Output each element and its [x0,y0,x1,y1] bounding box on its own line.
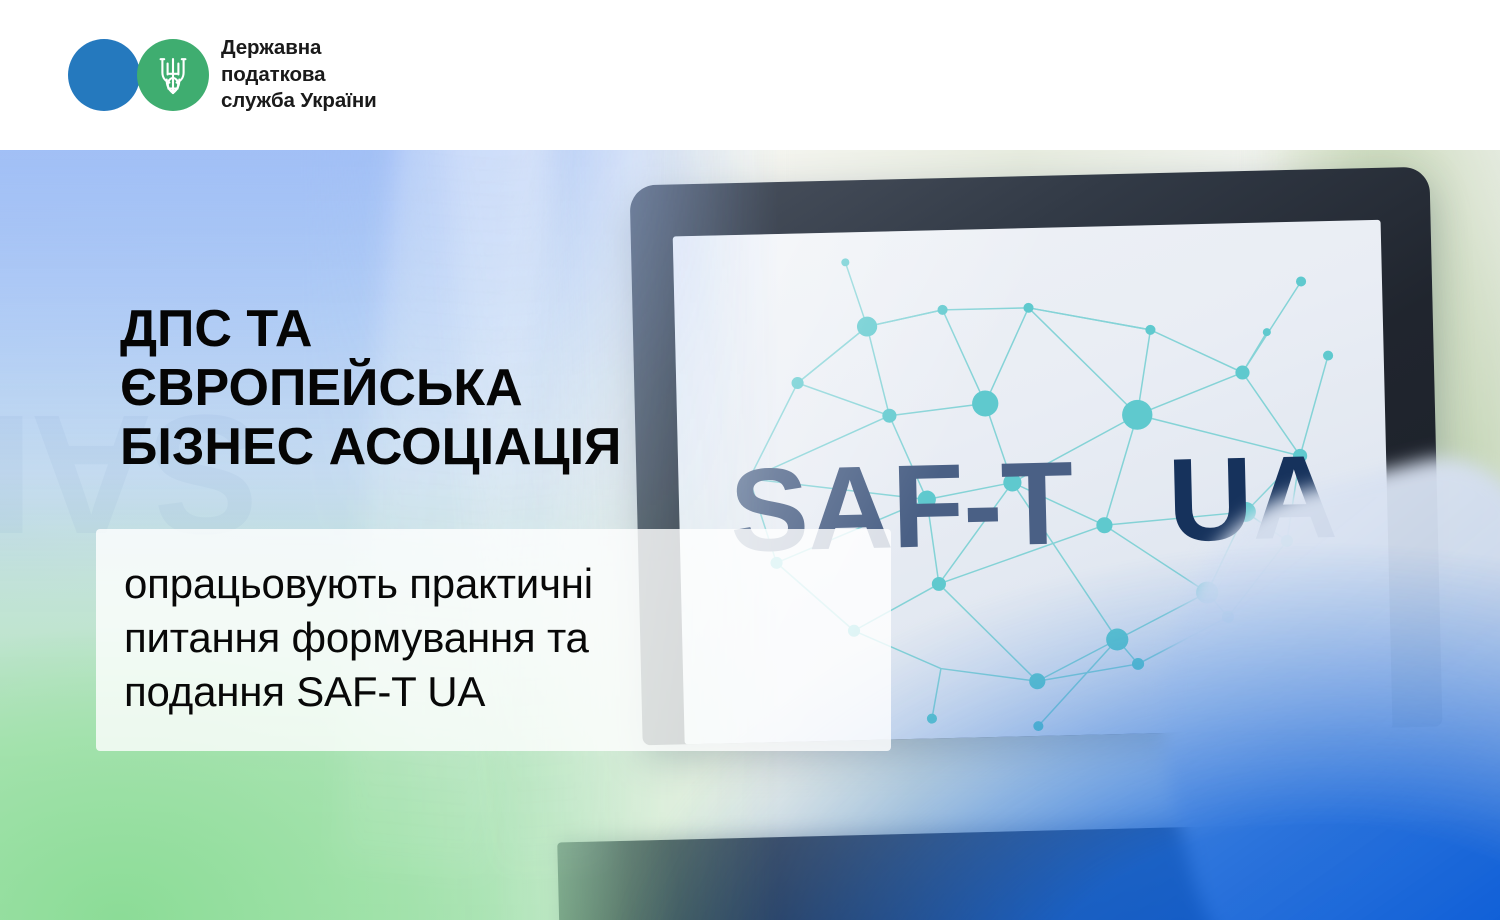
logo-marks [68,39,209,111]
subtitle-line-1: опрацьовують практичні [124,557,865,611]
poster-canvas: Державна податкова служба України [0,0,1500,920]
logo-line-1: Державна [221,35,377,62]
subtitle-panel: опрацьовують практичні питання формуванн… [96,529,891,751]
dps-logo: Державна податкова служба України [68,35,377,115]
logo-line-3: служба України [221,88,377,115]
logo-line-2: податкова [221,62,377,89]
logo-wordmark: Державна податкова служба України [221,35,377,115]
headline-line-1: ДПС ТА [120,300,820,359]
headline-line-2: ЄВРОПЕЙСЬКА [120,359,820,418]
header-bar: Державна податкова служба України [0,0,1500,150]
subtitle-line-2: питання формування та [124,611,865,665]
subtitle-text: опрацьовують практичні питання формуванн… [124,557,865,720]
page-title: ДПС ТА ЄВРОПЕЙСЬКА БІЗНЕС АСОЦІАЦІЯ [120,300,820,477]
blue-circle-icon [68,39,140,111]
ukraine-trident-icon [137,39,209,111]
subtitle-line-3: подання SAF-T UA [124,665,865,719]
headline-line-3: БІЗНЕС АСОЦІАЦІЯ [120,418,820,477]
